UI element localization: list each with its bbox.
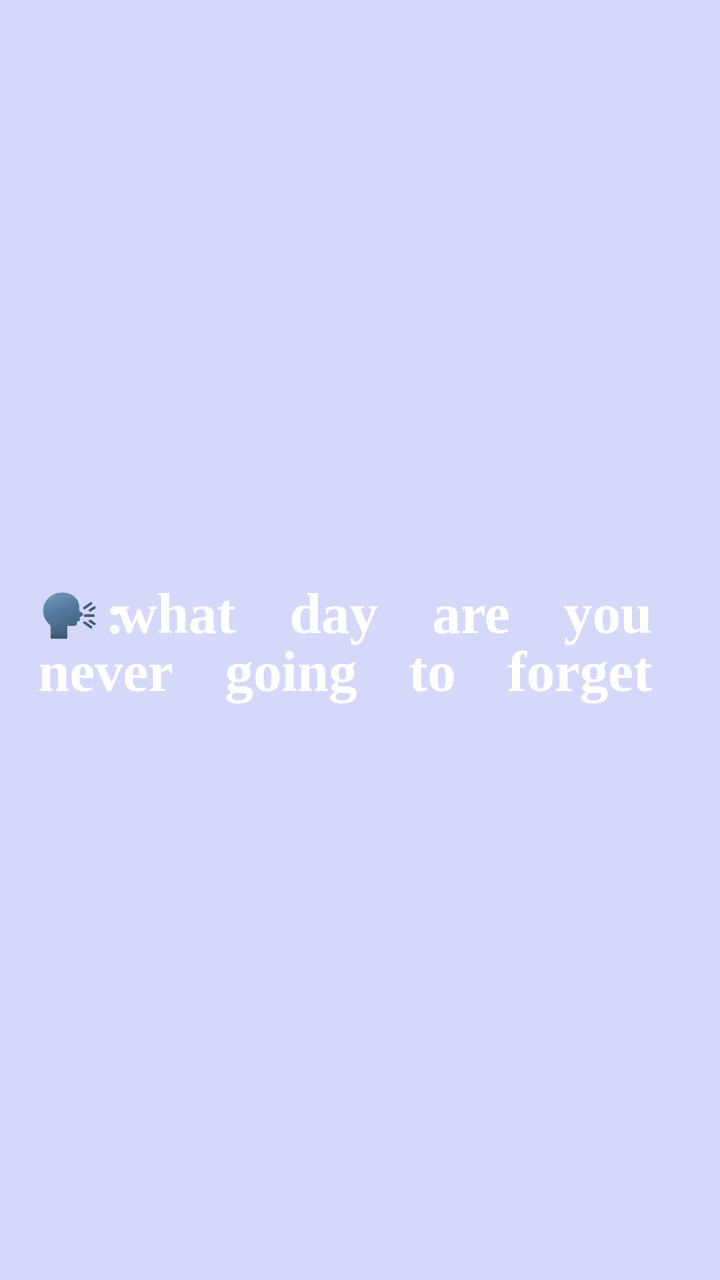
speaking-head-icon [38,586,110,646]
caption-word: you [564,586,652,644]
caption-word: to [409,644,456,702]
caption-word: what [116,586,236,644]
caption-line-1: : what day are you [38,586,652,644]
caption-colon: : [102,586,128,644]
caption-word: day [290,586,378,644]
caption-word: forget [508,644,652,702]
caption-word: never [38,644,173,702]
caption-word: are [432,586,509,644]
caption-block: : what day are you never going to forget [38,586,652,702]
caption-word: going [225,644,357,702]
caption-line-2: never going to forget [38,644,652,702]
story-canvas: : what day are you never going to forget [0,0,720,1280]
